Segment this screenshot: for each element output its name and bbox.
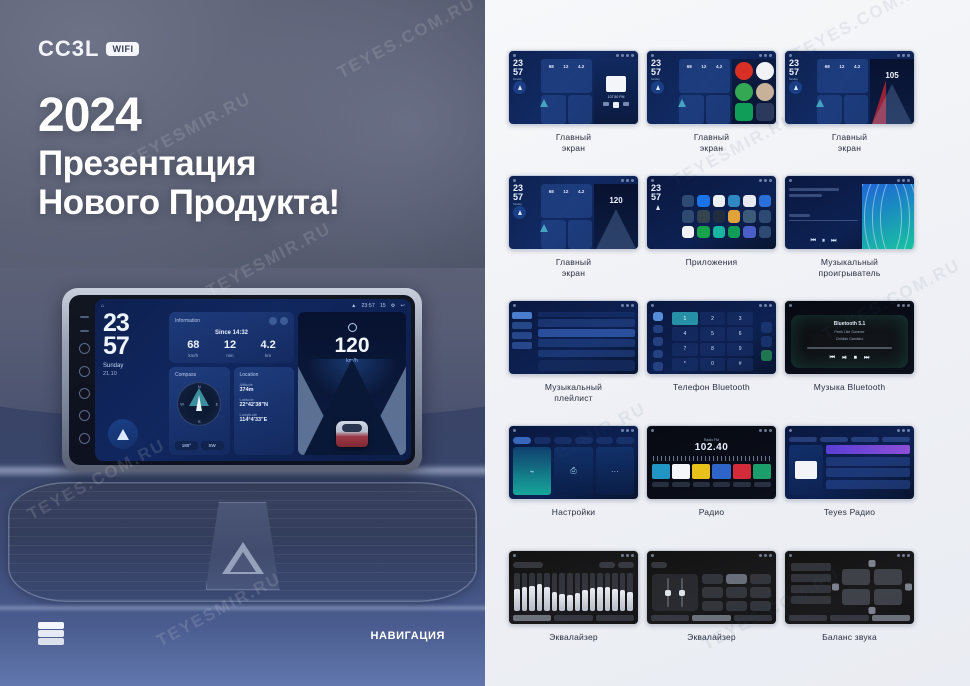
latitude-row: Latitude 22°42'38"N [240,397,289,408]
product-logo: CC3L WIFI [38,36,139,62]
information-card-header: Information [175,317,288,325]
information-title: Information [175,318,200,324]
wifi-icon [897,554,900,557]
tile-caption: Баланс звука [822,632,877,643]
preset-list[interactable] [791,563,831,611]
mic-key[interactable] [79,410,90,421]
gallery-item[interactable]: 23 57 [646,175,777,300]
band-slider [582,573,588,611]
progress-bar [789,220,858,222]
mini-widgets: 68124.2 [539,184,594,249]
gauge-icon [348,323,357,332]
gallery-item[interactable]: ⌁ ⎙ ··· Настройки [508,425,639,550]
mini-status-bar [785,301,914,309]
latitude-value: 22°42'38"N [240,402,289,408]
gallery-item[interactable]: Музыкальный плейлист [508,300,639,425]
thumb-radio[interactable]: Radio FM 102.40 [646,425,777,500]
home-icon [789,54,792,57]
hazard-triangle-inner [230,552,256,572]
back-key[interactable] [79,388,90,399]
playlist-sidebar[interactable] [509,309,535,374]
home-icon [651,54,654,57]
gallery-item[interactable]: ⏮ ⏸ ⏭ Музыкальный проигрыватель [784,175,915,300]
tab-eq [651,615,689,621]
effect-pads[interactable] [702,574,771,611]
wifi-icon [621,304,624,307]
back-icon[interactable]: ↩ [401,303,405,309]
band-slider [529,573,535,611]
next-icon [623,102,629,106]
pad-3 [750,574,771,584]
gear-icon [769,554,772,557]
thumb-equalizer-2[interactable] [646,550,777,625]
tab-sound [692,615,730,621]
widget-column: Information Since 14:32 68 km/h [169,312,294,455]
lower-widget-row: Compass N S W E [169,367,294,455]
altitude-value: 374m [240,387,289,393]
compass-card[interactable] [541,95,566,125]
app-icon-play-store [728,226,740,238]
arrow-right-icon[interactable] [905,584,912,591]
navigation-label: НАВИГАЦИЯ [371,630,445,642]
bt-track-artist: Childish Gambino [836,337,864,341]
preset-front [791,563,831,571]
compass-card[interactable] [541,220,566,250]
watermark: TEYES.COM.RU [334,0,479,83]
thumb-music-playlist[interactable] [508,300,639,375]
compass-heading: 180° [175,441,198,450]
app-icon-contacts [756,83,774,101]
backspace-icon [761,336,772,347]
key-4: 4 [672,327,698,340]
band-slider [612,573,618,611]
app-icon-wifi [682,195,694,207]
radio-toolbar[interactable] [647,482,776,490]
tile-caption: Радио [699,507,725,518]
head-unit-body: ⌂ ▲ 23:57 15 ⚙ ↩ 23 57 Sunday 21.10 [69,295,415,465]
stat-time: 12 min [224,340,236,358]
app-icon-youtube [735,62,753,80]
wifi-icon [759,179,762,182]
sidebar-item-settings [653,362,663,371]
home-key[interactable] [79,366,90,377]
thumb-home-screen-road[interactable]: 23 57 Sunday 68124.2 [784,50,915,125]
information-card[interactable]: 68124.2 [817,59,868,93]
stat-distance: 4.2 km [260,340,275,358]
clock-weekday: Sunday [103,363,165,371]
prev-icon[interactable]: ⏮ [811,238,816,245]
navigation-button[interactable] [513,81,526,94]
playlist-tabs [538,312,635,317]
prev-icon [603,102,609,106]
head-unit-screen[interactable]: ⌂ ▲ 23:57 15 ⚙ ↩ 23 57 Sunday 21.10 [95,299,411,461]
longitude-row: Longitude 114°4'33"E [240,412,289,423]
gear-icon[interactable]: ⚙ [391,303,396,309]
dial-keypad[interactable]: 123 456 789 *0# [669,309,756,374]
tile-caption: Музыкальный плейлист [545,382,602,403]
thumb-equalizer[interactable] [508,550,639,625]
teyes-tabs[interactable] [785,434,914,445]
mute-key[interactable] [79,433,90,444]
tile-wifi[interactable]: ⌁ [513,447,551,495]
compass-title: Compass [175,372,196,378]
longitude-value: 114°4'33"E [240,417,289,423]
app-icon-video [759,226,771,238]
app-icon-phone [759,195,771,207]
clock-icon [626,554,629,557]
wifi-icon [759,429,762,432]
location-card[interactable] [706,95,731,125]
gallery-item[interactable]: 23 57 Sunday 68124.2 [508,175,639,300]
compass-card[interactable] [817,95,842,125]
volume-up-key[interactable] [80,330,89,332]
band-slider [575,573,581,611]
thumb-music-player[interactable]: ⏮ ⏸ ⏭ [784,175,915,250]
track-title-placeholder [789,188,839,191]
logo-text: CC3L [38,36,99,62]
screenshot-gallery: 23 57 Sunday 68124.2 [508,50,947,675]
road-surface [872,84,912,124]
next-icon[interactable]: ⏭ [831,238,836,245]
media-station: 107.50 FM [608,95,625,99]
gallery-item[interactable]: Teyes Радио [784,425,915,550]
mini-player-bar[interactable] [538,360,635,371]
progress-time [789,214,810,217]
location-card[interactable] [568,95,593,125]
location-card[interactable] [844,95,869,125]
hardware-key-rail[interactable] [73,299,95,461]
call-icon [761,350,772,361]
information-card[interactable]: 68124.2 [541,59,592,93]
clock-icon [626,429,629,432]
preset-rear [791,574,831,582]
reset-button [618,562,634,568]
tab-fader [734,615,772,621]
app-icon-play [735,103,753,121]
wifi-icon [897,429,900,432]
preset-all [791,585,831,593]
home-icon [513,179,516,182]
gallery-item[interactable]: Эквалайзер [646,550,777,675]
key-3: 3 [727,312,753,325]
volume-level: 15 [380,303,386,309]
clock-date: 21.10 [103,371,165,378]
information-card[interactable]: 68124.2 [679,59,730,93]
next-icon: ⏭ [864,355,869,362]
clock-widget[interactable]: 23 57 Sunday 21.10 [100,312,165,455]
preset-1 [652,464,670,479]
key-6: 6 [727,327,753,340]
phone-sidebar[interactable] [647,309,669,374]
thumb-settings[interactable]: ⌁ ⎙ ··· [508,425,639,500]
thumb-bluetooth-phone[interactable]: 123 456 789 *0# [646,300,777,375]
mini-clock-day: Sunday [513,78,539,81]
gallery-item[interactable]: Radio FM 102.40 [646,425,777,550]
road-surface [596,209,636,249]
navigation-button[interactable] [108,419,138,449]
station-artwork [789,445,823,495]
sidebar-item-history [653,350,663,359]
location-card[interactable]: Location Altitude 374m Latitude 22°42'38… [234,367,295,455]
thumb-bluetooth-music[interactable]: Bluetooth 5.1 Feels Like Summer Childish… [784,300,915,375]
stat-time-value: 12 [224,340,236,351]
preset-label [513,562,543,568]
home-icon [789,179,792,182]
tab-all [789,437,817,442]
road-illustration: 105 [870,59,914,124]
speaker-rear-right [874,589,902,605]
pad-7 [702,601,723,611]
thumb-home-screen-apps[interactable]: 23 57 Sunday 68124.2 [646,50,777,125]
wifi-icon [616,54,619,57]
pad-2 [726,574,747,584]
compass-card[interactable] [679,95,704,125]
navigation-arrow-icon [656,85,660,90]
settings-tiles[interactable]: ⌁ ⎙ ··· [509,447,638,499]
balance-body [785,559,914,615]
arrow-up-icon[interactable] [869,560,876,567]
thumb-home-screen-road2[interactable]: 23 57 Sunday 68124.2 [508,175,639,250]
headline-line-1: Презентация [38,144,340,183]
navigation-arrow-icon [117,429,129,440]
mini-status-bar [647,426,776,434]
bluetooth-player-card: Bluetooth 5.1 Feels Like Summer Childish… [791,315,908,368]
media-controls[interactable] [603,102,629,108]
app-icon-filemanager [728,210,740,222]
preset-2 [672,464,690,479]
wifi-icon [759,304,762,307]
compass-readout: 180° SW [175,441,224,450]
mini-status-bar [785,426,914,434]
thumb-sound-balance[interactable] [784,550,915,625]
navigation-button[interactable] [513,206,526,219]
location-card[interactable] [568,220,593,250]
gallery-item[interactable]: Эквалайзер [508,550,639,675]
tile-caption: Настройки [552,507,595,518]
mini-status-bar [509,551,638,559]
visualizer [862,184,914,249]
gear-icon [907,554,910,557]
gear-icon [769,429,772,432]
gear-icon [907,179,910,182]
tab-eq [513,615,551,621]
gallery-item[interactable]: 123 456 789 *0# Телефон Bluetoot [646,300,777,425]
list-item [538,339,635,347]
back-button[interactable] [651,201,664,214]
level-sliders[interactable] [652,574,698,611]
radio-presets[interactable] [647,461,776,482]
drive-widget[interactable]: 120 [594,184,638,249]
list-item [538,350,635,358]
sidebar-item-dialpad [653,312,663,321]
sidebar-item-folders [512,342,532,349]
volume-icon [626,54,629,57]
tile-caption: Главный экран [556,132,591,153]
hero-headline: 2024 Презентация Нового Продукта! [38,92,340,222]
gallery-item[interactable]: 23 57 Sunday 68124.2 [646,50,777,175]
thumb-applications[interactable]: 23 57 [646,175,777,250]
clock-icon [902,304,905,307]
tile-caption: Музыкальный проигрыватель [819,257,881,278]
mini-widgets: 68124.2 [677,59,732,124]
gallery-item[interactable]: Bluetooth 5.1 Feels Like Summer Childish… [784,300,915,425]
loc-icon [733,482,750,487]
mini-status-bar [509,176,638,184]
gear-icon [907,429,910,432]
title-label [651,562,667,568]
expand-icon[interactable] [280,317,288,325]
clock-icon [764,179,767,182]
pad-9 [750,601,771,611]
key-1: 1 [672,312,698,325]
clock-icon [764,54,767,57]
home-screen-body: 23 57 Sunday 21.10 Information [95,312,411,461]
band-slider [620,573,626,611]
volume-down-key[interactable] [80,316,89,318]
pause-icon[interactable]: ⏸ [822,238,825,245]
mini-clock-mm: 57 [513,68,539,77]
information-card[interactable]: 68124.2 [541,184,592,218]
trip-stats: 68 km/h 12 min 4.2 km [175,340,288,358]
mini-status-bar [509,426,638,434]
clock-icon [764,304,767,307]
favorite-icon [761,322,772,333]
back-icon [656,205,660,210]
information-card[interactable]: Information Since 14:32 68 km/h [169,312,294,363]
preset-button [599,562,615,568]
radio-tuner: Radio FM 102.40 [647,434,776,453]
balance-pad[interactable] [836,563,908,611]
wifi-icon: ▲ [351,303,356,309]
compass-card[interactable]: Compass N S W E [169,367,230,455]
wifi-icon [621,429,624,432]
app-drawer-grid[interactable] [677,184,776,249]
sound-effect-body [647,571,776,615]
home-icon [651,304,654,307]
home-icon[interactable]: ⌂ [101,303,104,309]
band-slider [605,573,611,611]
equalizer-bands[interactable] [509,571,638,615]
mini-status-bar [647,176,776,184]
band-slider [552,573,558,611]
compass-west-label: W [180,402,184,407]
road-illustration [298,359,406,455]
pad-1 [702,574,723,584]
mini-status-bar [785,551,914,559]
progress-bar[interactable] [807,347,891,349]
now-playing-info: ⏮ ⏸ ⏭ [785,184,862,249]
gallery-item[interactable]: 23 57 Sunday 68124.2 [508,50,639,175]
location-title: Location [240,372,259,378]
app-icon-contacts [743,195,755,207]
drive-widget[interactable]: 120 km/h [298,312,406,455]
tile-caption: Главный экран [832,132,867,153]
arrow-left-icon[interactable] [832,584,839,591]
speaker-front-right [874,569,902,585]
tab-sound [554,615,592,621]
bt-track-title: Feels Like Summer [834,330,864,334]
mini-status-bar [785,51,914,59]
mini-status-bar [785,176,914,184]
status-bar: ⌂ ▲ 23:57 15 ⚙ ↩ [95,299,411,312]
equalizer-tabs[interactable] [509,615,638,624]
station-list[interactable] [826,445,910,495]
equalizer-tabs[interactable] [785,615,914,624]
navigation-button[interactable] [651,81,664,94]
gear-icon [631,304,634,307]
list-icon [693,482,710,487]
search-icon [672,482,689,487]
right-gallery-panel: TEYES.COM.RU TEYESMIR.RU TEYES.COM.RU TE… [485,0,970,686]
pad-6 [750,587,771,597]
altitude-row: Altitude 374m [240,382,289,393]
arrow-down-icon[interactable] [869,607,876,614]
playlist-rows[interactable] [535,309,638,374]
power-key[interactable] [79,343,90,354]
band-slider [537,573,543,611]
media-widget[interactable]: 107.50 FM [594,59,638,124]
bluetooth-version: Bluetooth 5.1 [834,321,866,327]
gear-icon [769,179,772,182]
sidebar-item-albums [512,332,532,339]
thumb-home-screen-media[interactable]: 23 57 Sunday 68124.2 [508,50,639,125]
app-icon-chrome [756,62,774,80]
wifi-icon [621,554,624,557]
drive-widget[interactable]: 105 [870,59,914,124]
equalizer-header[interactable] [509,559,638,571]
tile-hotspot[interactable]: ⎙ [554,447,592,495]
album-art [606,76,626,92]
player-controls[interactable]: ⏮⏯⏹⏭ [830,355,870,362]
band-slider [590,573,596,611]
equalizer-tabs[interactable] [647,615,776,624]
tile-caption: Главный экран [694,132,729,153]
clock-icon [902,179,905,182]
prev-icon: ⏮ [830,355,835,362]
compass-dial: N S W E [177,382,221,426]
wifi-icon [897,179,900,182]
tile-caption: Эквалайзер [549,632,598,643]
track-artist-placeholder [789,194,822,197]
list-item-selected [826,445,910,454]
gallery-item[interactable]: Баланс звука [784,550,915,675]
home-icon [513,54,516,57]
gear-icon [631,429,634,432]
mini-clock: 23 57 Sunday [509,184,539,249]
player-controls[interactable]: ⏮ ⏸ ⏭ [789,238,858,245]
app-shortcut-grid[interactable] [732,59,776,124]
tile-caption: Телефон Bluetooth [673,382,750,393]
status-time: 23:57 [361,303,375,309]
tab-display [554,437,572,444]
gallery-item[interactable]: 23 57 Sunday 68124.2 [784,50,915,175]
wifi-icon [621,179,624,182]
eq-icon [713,482,730,487]
dial-actions[interactable] [756,309,776,374]
stat-speed: 68 km/h [187,340,199,358]
app-icon-maps [697,226,709,238]
mini-status-bar [647,51,776,59]
navigation-button[interactable] [789,81,802,94]
band-slider [522,573,528,611]
app-icon-spotify [735,83,753,101]
thumb-teyes-radio[interactable] [784,425,915,500]
stat-speed-unit: km/h [187,353,199,358]
tile-more[interactable]: ··· [596,447,634,495]
settings-tabs[interactable] [509,434,638,447]
refresh-icon[interactable] [269,317,277,325]
trip-since: Since 14:32 [175,330,288,336]
